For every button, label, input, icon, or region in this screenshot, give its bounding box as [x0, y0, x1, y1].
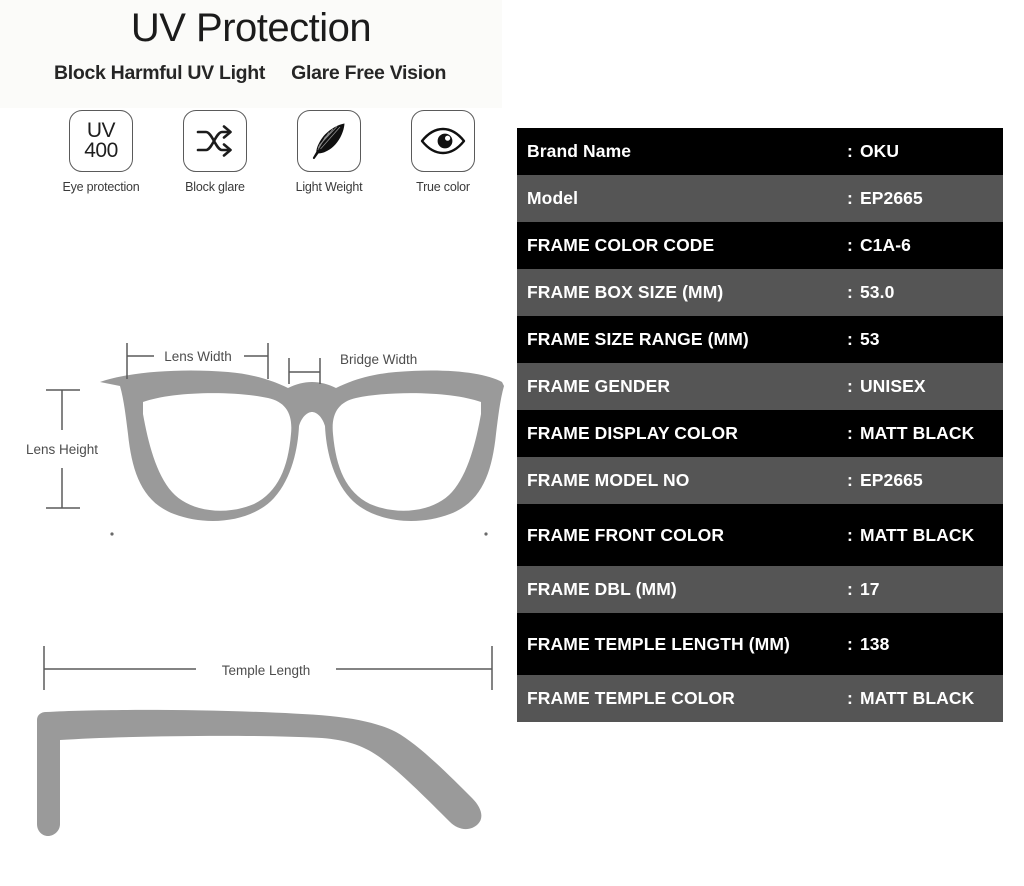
- spec-row-separator: :: [847, 329, 853, 349]
- spec-row-value: :OKU: [847, 141, 1003, 162]
- spec-row-value: :138: [847, 634, 1003, 655]
- feather-glyph: [307, 119, 351, 163]
- subtitle-glare-free-vision: Glare Free Vision: [291, 62, 446, 85]
- spec-row-separator: :: [847, 423, 853, 443]
- spec-row-value: :C1A-6: [847, 235, 1003, 256]
- spec-row-value: :MATT BLACK: [847, 525, 1003, 546]
- spec-row-value: :MATT BLACK: [847, 423, 1003, 444]
- spec-row: FRAME DISPLAY COLOR:MATT BLACK: [517, 410, 1003, 457]
- shuffle-arrows-icon: [183, 110, 247, 172]
- spec-row-value-text: C1A-6: [860, 235, 911, 255]
- spec-row-separator: :: [847, 688, 853, 708]
- spec-row-value: :EP2665: [847, 188, 1003, 209]
- temple-length-label: Temple Length: [222, 663, 311, 678]
- spec-row-separator: :: [847, 579, 853, 599]
- subtitle-block-uv-light: Block Harmful UV Light: [54, 62, 265, 85]
- shuffle-arrows-glyph: [194, 123, 236, 159]
- uv400-badge-line2: 400: [84, 141, 118, 161]
- feature-caption-eye-protection: Eye protection: [62, 180, 139, 194]
- spec-row-value: :17: [847, 579, 1003, 600]
- spec-row-label: FRAME TEMPLE LENGTH (MM): [527, 634, 847, 655]
- spec-row-label: Model: [527, 188, 847, 209]
- spec-row-value: :53.0: [847, 282, 1003, 303]
- feature-light-weight: Light Weight: [274, 110, 384, 194]
- spec-row-value: :53: [847, 329, 1003, 350]
- spec-row: FRAME COLOR CODE:C1A-6: [517, 222, 1003, 269]
- eye-glyph: [420, 126, 466, 156]
- feature-true-color: True color: [388, 110, 498, 194]
- spec-row-label: FRAME DBL (MM): [527, 579, 847, 600]
- spec-row-separator: :: [847, 141, 853, 161]
- spec-row-value-text: MATT BLACK: [860, 423, 974, 443]
- eyeglasses-frame-shape: [100, 370, 504, 521]
- feature-caption-light-weight: Light Weight: [296, 180, 363, 194]
- spec-row-separator: :: [847, 634, 853, 654]
- spec-row-label: FRAME GENDER: [527, 376, 847, 397]
- spec-row-value-text: 53.0: [860, 282, 894, 302]
- spec-row-separator: :: [847, 188, 853, 208]
- spec-row-separator: :: [847, 376, 853, 396]
- spec-row-label: FRAME SIZE RANGE (MM): [527, 329, 847, 350]
- feather-icon: [297, 110, 361, 172]
- lens-height-label: Lens Height: [26, 442, 98, 457]
- spec-row-value-text: 17: [860, 579, 880, 599]
- spec-row-value: :EP2665: [847, 470, 1003, 491]
- spec-row-label: Brand Name: [527, 141, 847, 162]
- spec-row-separator: :: [847, 235, 853, 255]
- spec-row-value-text: MATT BLACK: [860, 688, 974, 708]
- spec-row-value: :UNISEX: [847, 376, 1003, 397]
- spec-row-separator: :: [847, 470, 853, 490]
- eye-icon: [411, 110, 475, 172]
- feature-caption-true-color: True color: [416, 180, 470, 194]
- spec-row: FRAME BOX SIZE (MM):53.0: [517, 269, 1003, 316]
- spec-row-separator: :: [847, 282, 853, 302]
- spec-row: Model:EP2665: [517, 175, 1003, 222]
- uv-protection-subtitles: Block Harmful UV Light Glare Free Vision: [0, 62, 500, 85]
- uv400-icon: UV 400: [69, 110, 133, 172]
- spec-row-value-text: OKU: [860, 141, 899, 161]
- hinge-dot-right: [484, 532, 487, 535]
- uv-protection-title: UV Protection: [0, 6, 502, 50]
- spec-row-value-text: EP2665: [860, 188, 923, 208]
- eyeglasses-temple-measurement-diagram: Temple Length: [0, 628, 512, 858]
- feature-eye-protection: UV 400 Eye protection: [46, 110, 156, 194]
- product-specification-table: Brand Name:OKUModel:EP2665FRAME COLOR CO…: [517, 128, 1003, 722]
- spec-row-value-text: EP2665: [860, 470, 923, 490]
- spec-row-value-text: UNISEX: [860, 376, 926, 396]
- spec-row-separator: :: [847, 525, 853, 545]
- spec-row: FRAME SIZE RANGE (MM):53: [517, 316, 1003, 363]
- spec-row-label: FRAME BOX SIZE (MM): [527, 282, 847, 303]
- temple-arm-shape: [37, 710, 481, 836]
- feature-block-glare: Block glare: [160, 110, 270, 194]
- spec-row-label: FRAME DISPLAY COLOR: [527, 423, 847, 444]
- feature-caption-block-glare: Block glare: [185, 180, 245, 194]
- hinge-dot-left: [110, 532, 113, 535]
- lens-width-label: Lens Width: [164, 349, 232, 364]
- bridge-width-dimension: [289, 358, 320, 384]
- spec-row: Brand Name:OKU: [517, 128, 1003, 175]
- spec-row: FRAME GENDER:UNISEX: [517, 363, 1003, 410]
- spec-row-label: FRAME TEMPLE COLOR: [527, 688, 847, 709]
- spec-row-label: FRAME FRONT COLOR: [527, 525, 847, 546]
- left-illustration-panel: UV Protection Block Harmful UV Light Gla…: [0, 0, 512, 886]
- spec-row-value-text: 138: [860, 634, 890, 654]
- spec-row-value-text: MATT BLACK: [860, 525, 974, 545]
- spec-row-label: FRAME COLOR CODE: [527, 235, 847, 256]
- spec-row-value-text: 53: [860, 329, 880, 349]
- spec-row-value: :MATT BLACK: [847, 688, 1003, 709]
- uv-feature-icon-row: UV 400 Eye protection Block glare: [46, 110, 498, 194]
- bridge-width-label: Bridge Width: [340, 352, 417, 367]
- spec-row: FRAME TEMPLE LENGTH (MM):138: [517, 613, 1003, 675]
- spec-row: FRAME TEMPLE COLOR:MATT BLACK: [517, 675, 1003, 722]
- eyeglasses-front-measurement-diagram: Lens Width Bridge Width Lens Height: [0, 322, 512, 572]
- spec-row-label: FRAME MODEL NO: [527, 470, 847, 491]
- spec-row: FRAME DBL (MM):17: [517, 566, 1003, 613]
- uv400-badge-line1: UV: [84, 121, 118, 141]
- spec-row: FRAME FRONT COLOR:MATT BLACK: [517, 504, 1003, 566]
- spec-row: FRAME MODEL NO:EP2665: [517, 457, 1003, 504]
